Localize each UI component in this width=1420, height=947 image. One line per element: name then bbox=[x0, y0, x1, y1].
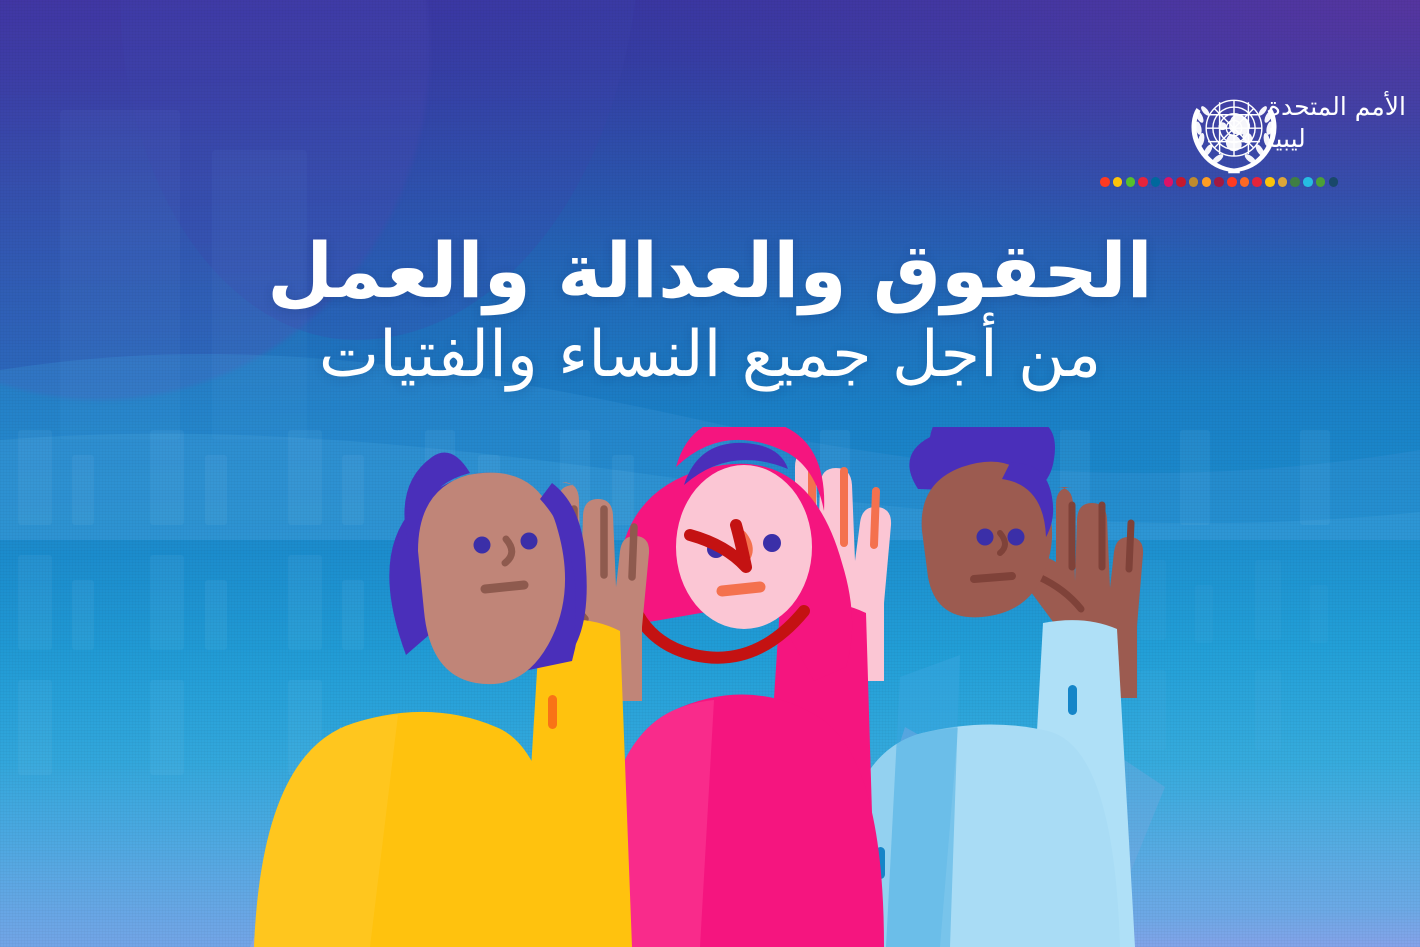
sdg-dot-16 bbox=[1138, 177, 1148, 187]
woman-light-blue-top bbox=[836, 427, 1143, 947]
left-cuff-stitch bbox=[548, 695, 557, 729]
sdg-dot-3 bbox=[1303, 177, 1313, 187]
sdg-dot-17 bbox=[1126, 177, 1136, 187]
sdg-dot-7 bbox=[1252, 177, 1262, 187]
left-figure-face bbox=[418, 473, 565, 685]
un-logo-block: الأمم المتحدة ليبيا bbox=[1186, 86, 1420, 180]
right-figure-head bbox=[909, 427, 1055, 617]
sdg-dot-6 bbox=[1265, 177, 1275, 187]
sdg-dot-13 bbox=[1176, 177, 1186, 187]
woman-yellow-sweater bbox=[254, 453, 649, 947]
sdg-dot-18 bbox=[1113, 177, 1123, 187]
sdg-dot-14 bbox=[1164, 177, 1174, 187]
headline-line-2: من أجل جميع النساء والفتيات bbox=[90, 317, 1330, 394]
sdg-dot-2 bbox=[1316, 177, 1326, 187]
sdg-dot-5 bbox=[1278, 177, 1288, 187]
three-women-illustration bbox=[0, 427, 1420, 947]
sdg-dot-4 bbox=[1290, 177, 1300, 187]
sdg-dot-15 bbox=[1151, 177, 1161, 187]
un-logo-line-2: ليبيا bbox=[1268, 122, 1406, 156]
poster-canvas: الحقوق والعدالة والعمل من أجل جميع النسا… bbox=[0, 0, 1420, 947]
sdg-dot-19 bbox=[1100, 177, 1110, 187]
sdg-dot-9 bbox=[1227, 177, 1237, 187]
headline-line-1: الحقوق والعدالة والعمل bbox=[90, 228, 1330, 313]
headline-block: الحقوق والعدالة والعمل من أجل جميع النسا… bbox=[0, 228, 1420, 394]
right-cuff-stitch bbox=[1068, 685, 1077, 715]
sdg-color-dots bbox=[1100, 177, 1338, 187]
sdg-dot-8 bbox=[1240, 177, 1250, 187]
sdg-dot-11 bbox=[1202, 177, 1212, 187]
un-emblem-icon bbox=[1186, 84, 1282, 180]
sdg-dot-1 bbox=[1329, 177, 1339, 187]
un-logo-line-1: الأمم المتحدة bbox=[1268, 92, 1406, 122]
sdg-dot-10 bbox=[1214, 177, 1224, 187]
sdg-dot-12 bbox=[1189, 177, 1199, 187]
un-logo-wordmark: الأمم المتحدة ليبيا bbox=[1268, 86, 1420, 155]
